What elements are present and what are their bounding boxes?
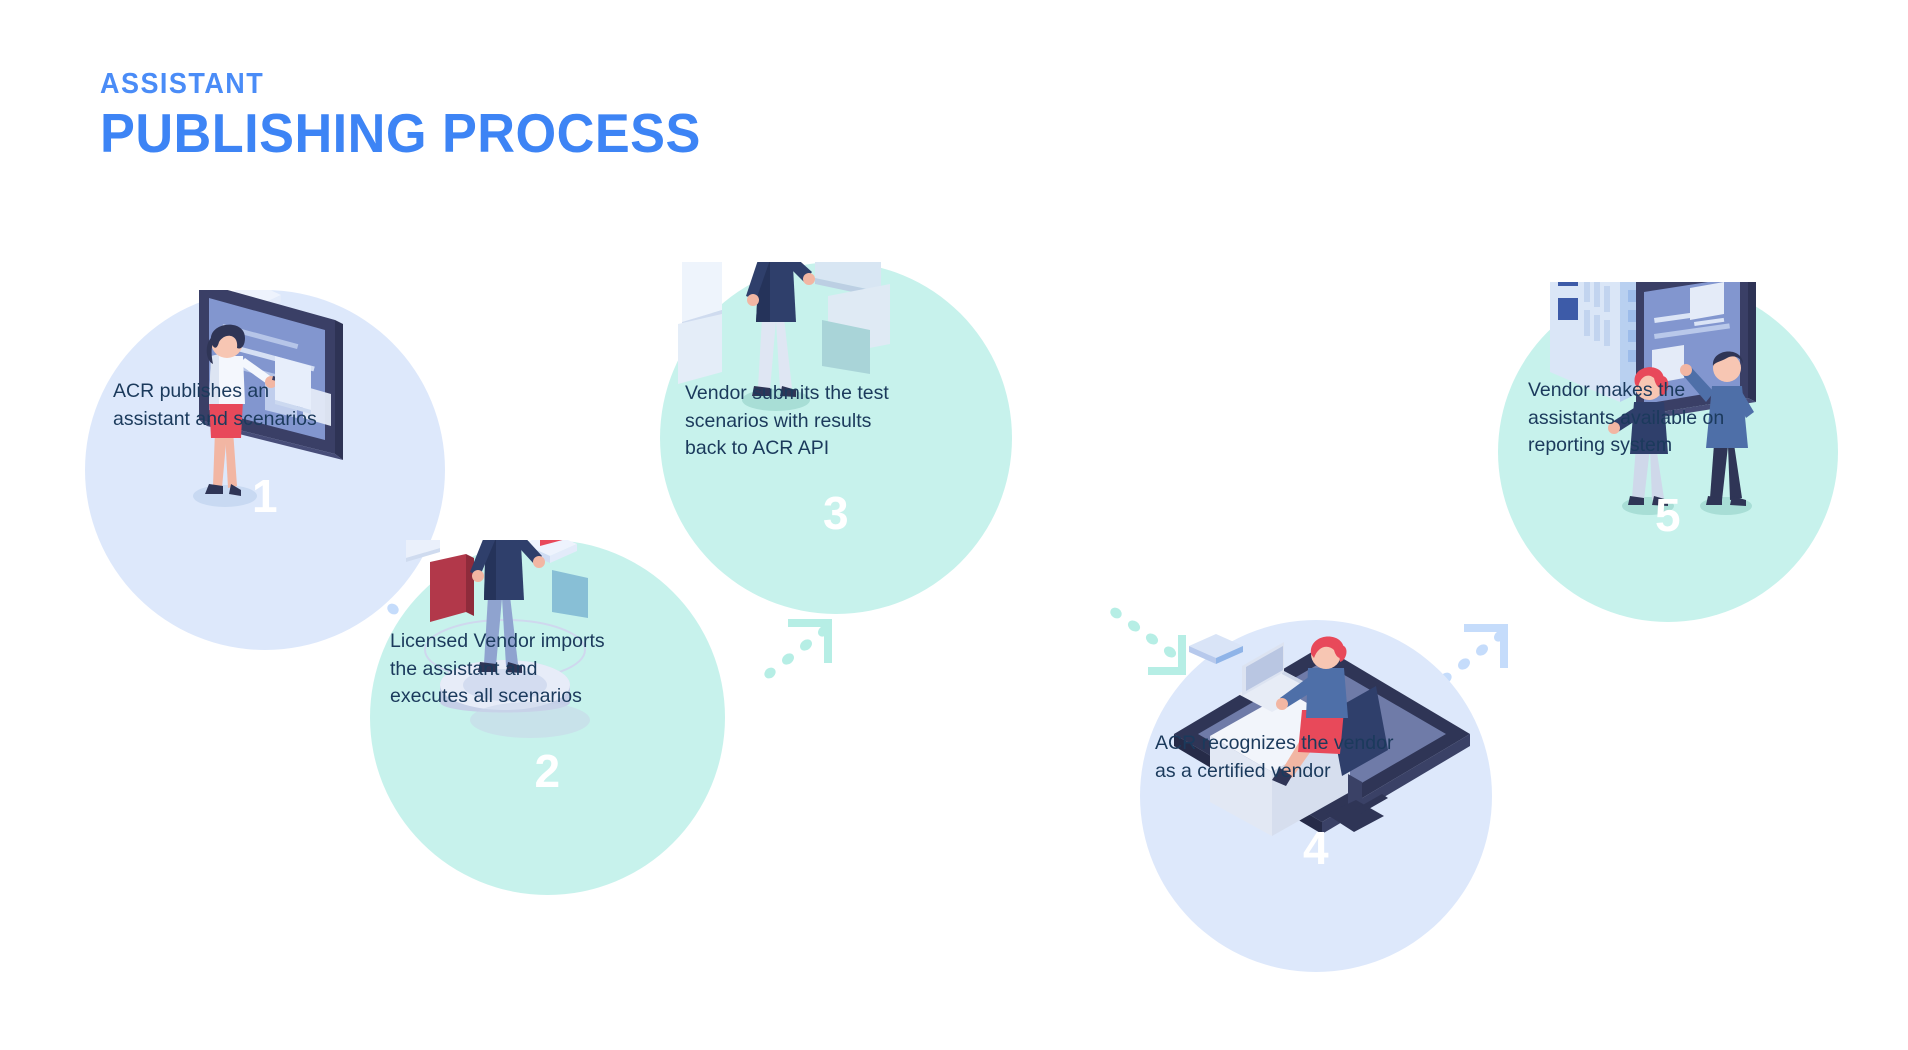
step-3-caption: Vendor submits the test scenarios with r… xyxy=(685,380,1005,463)
step-3-number: 3 xyxy=(660,490,1012,536)
step-1-caption: ACR publishes an assistant and scenarios xyxy=(113,378,433,433)
step-4-number: 4 xyxy=(1140,825,1492,871)
title-main: PUBLISHING PROCESS xyxy=(100,105,701,163)
step-1-number: 1 xyxy=(85,473,445,519)
step-5-number: 5 xyxy=(1498,492,1838,538)
step-4[interactable]: ACR recognizes the vendor as a certified… xyxy=(1140,620,1492,972)
step-2-caption: Licensed Vendor imports the assistant an… xyxy=(390,628,710,711)
step-5-caption: Vendor makes the assistants available on… xyxy=(1528,377,1848,460)
step-3[interactable]: Vendor submits the test scenarios with r… xyxy=(660,262,1012,614)
title-kicker: ASSISTANT xyxy=(100,70,688,99)
page-title: ASSISTANT PUBLISHING PROCESS xyxy=(100,70,732,163)
step-4-caption: ACR recognizes the vendor as a certified… xyxy=(1155,730,1485,785)
step-5[interactable]: Vendor makes the assistants available on… xyxy=(1498,282,1838,622)
step-4-bubble xyxy=(1140,620,1492,972)
step-2-number: 2 xyxy=(370,748,725,794)
